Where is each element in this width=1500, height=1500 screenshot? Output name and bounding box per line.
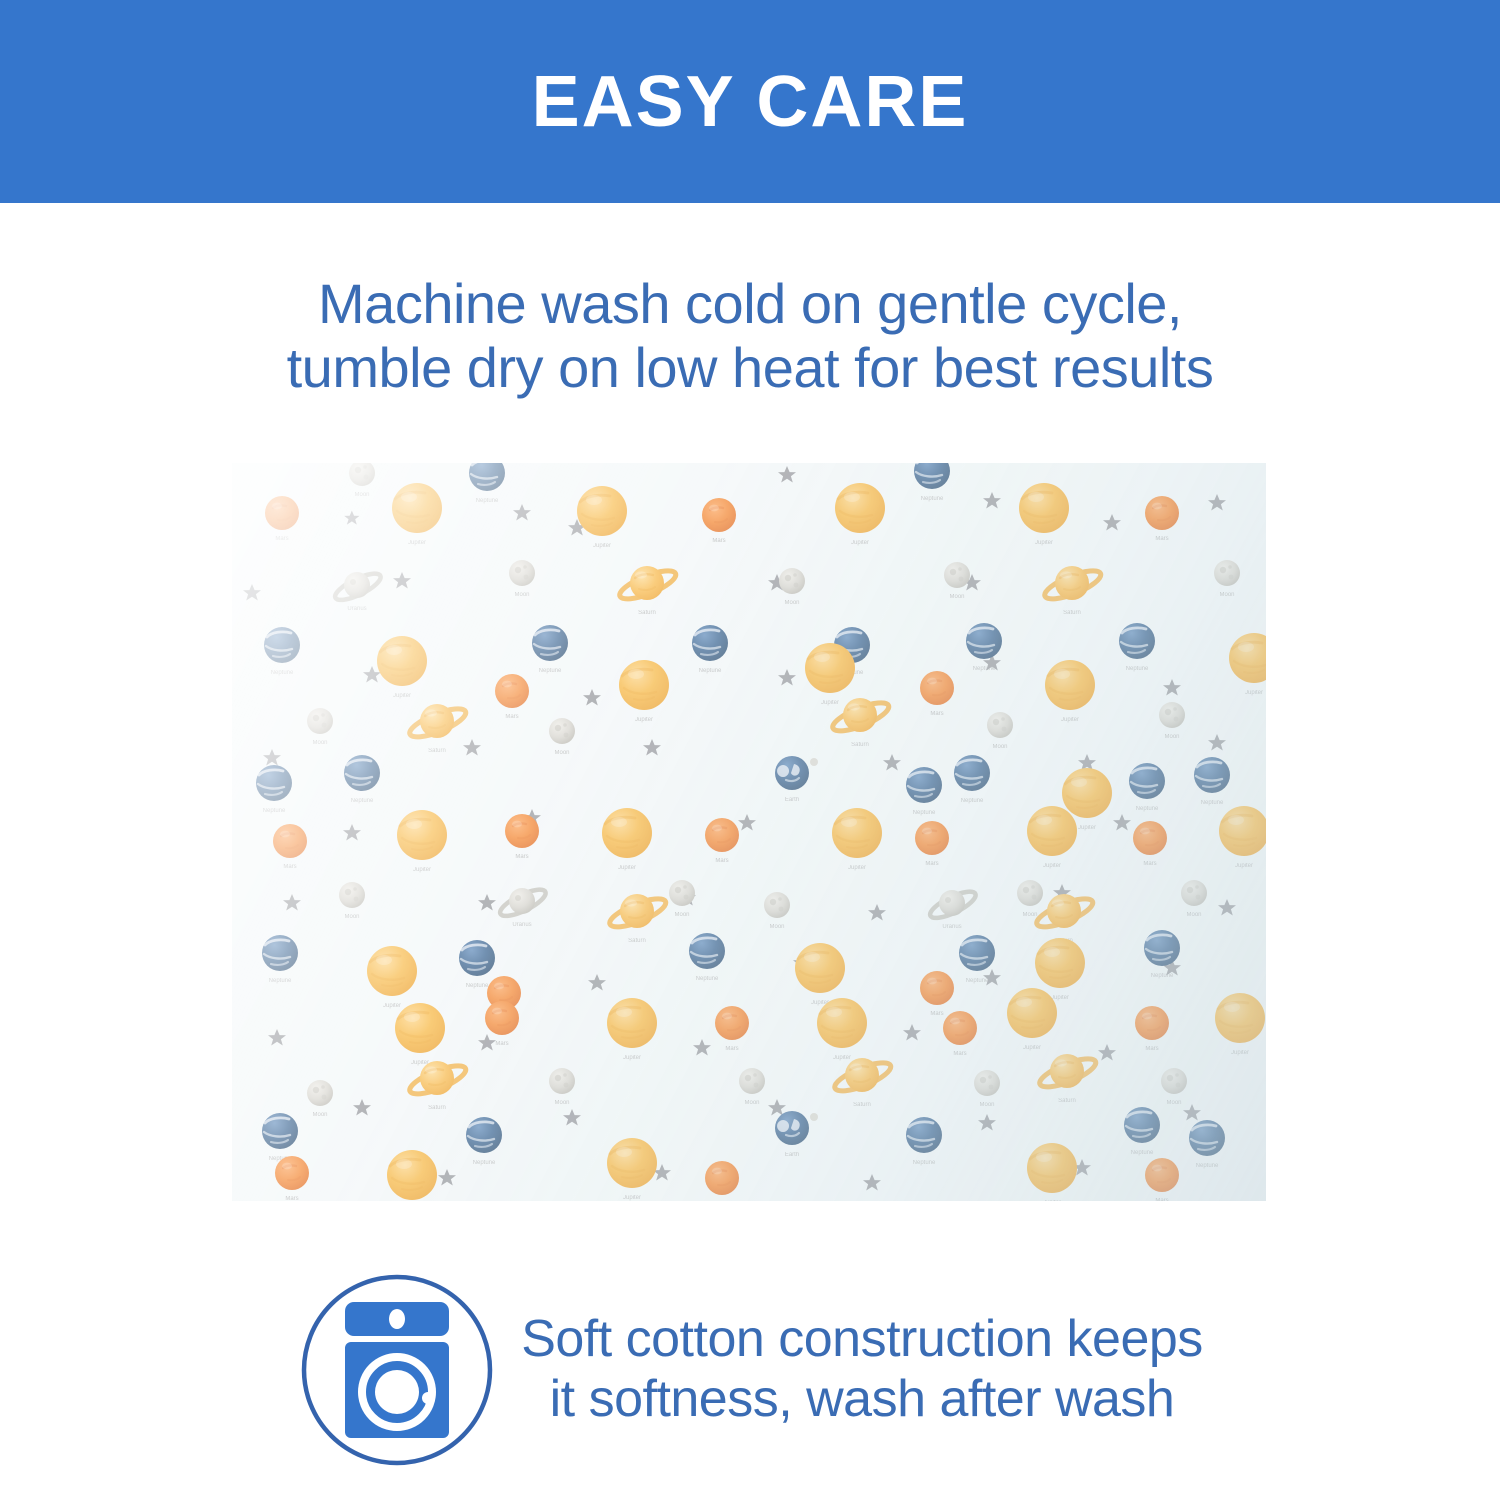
care-instruction-text: Machine wash cold on gentle cycle, tumbl… <box>0 272 1500 400</box>
feature-text-line-1: Soft cotton construction keeps <box>521 1310 1203 1369</box>
washing-machine-icon <box>297 1270 497 1470</box>
care-instruction-line-1: Machine wash cold on gentle cycle, <box>0 272 1500 336</box>
feature-text: Soft cotton construction keeps it softne… <box>521 1310 1203 1429</box>
page-title: EASY CARE <box>532 66 969 138</box>
fabric-pattern-svg: Mars Jupiter Saturn <box>232 463 1266 1201</box>
washer-knob <box>389 1309 405 1329</box>
washing-machine-svg <box>297 1270 497 1470</box>
care-instruction-line-2: tumble dry on low heat for best results <box>0 336 1500 400</box>
feature-text-line-2: it softness, wash after wash <box>521 1370 1203 1429</box>
fabric-photo: Mars Jupiter Saturn <box>232 463 1266 1201</box>
washer-drum-window <box>375 1370 419 1414</box>
header-banner: EASY CARE <box>0 0 1500 203</box>
feature-row: Soft cotton construction keeps it softne… <box>0 1262 1500 1477</box>
washer-latch <box>422 1392 434 1404</box>
